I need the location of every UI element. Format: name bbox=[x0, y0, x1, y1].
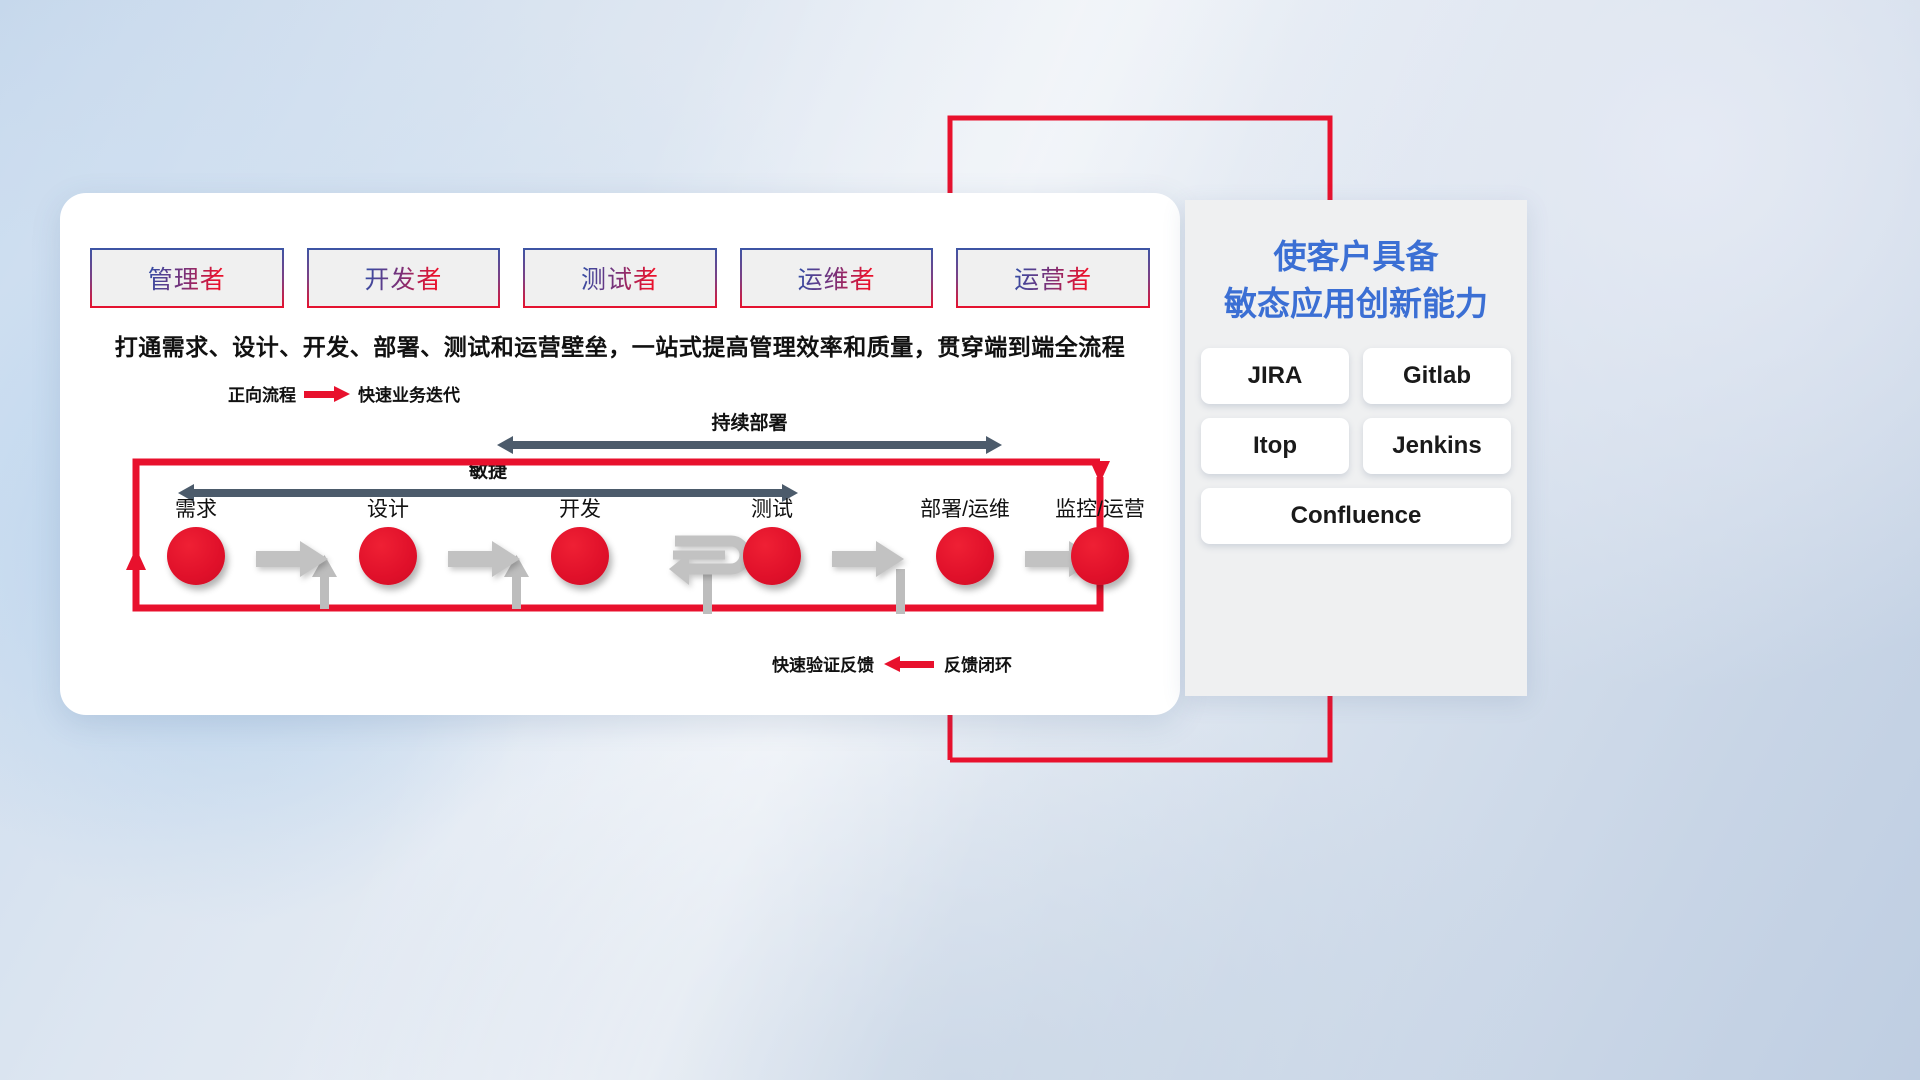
pipeline-stage-development[interactable]: 开发 bbox=[520, 493, 640, 585]
legend-feedback-right-label: 反馈闭环 bbox=[944, 651, 1012, 676]
role-label: 运维者 bbox=[798, 260, 876, 296]
pipeline-stage-design[interactable]: 设计 bbox=[328, 493, 448, 585]
panel-title-line2: 敏态应用创新能力 bbox=[1185, 281, 1527, 328]
stage-dot-icon bbox=[551, 527, 609, 585]
arrow-left-red-icon bbox=[884, 656, 934, 672]
tool-label: JIRA bbox=[1248, 362, 1303, 390]
stage-dot-icon bbox=[743, 527, 801, 585]
stage-label: 部署/运维 bbox=[905, 493, 1025, 523]
pipeline-stage-requirements[interactable]: 需求 bbox=[136, 493, 256, 585]
double-arrow-icon bbox=[497, 436, 1002, 454]
stage-dot-icon bbox=[936, 527, 994, 585]
stage-dot-icon bbox=[1071, 527, 1129, 585]
value-proposition-panel: 使客户具备 敏态应用创新能力 JIRA Gitlab Itop Jenkins … bbox=[1185, 200, 1527, 696]
tool-jenkins[interactable]: Jenkins bbox=[1363, 418, 1511, 474]
arrow-right-gray-icon bbox=[448, 539, 522, 579]
role-box-row: 管理者 开发者 测试者 运维者 运营者 bbox=[90, 248, 1150, 308]
role-label: 运营者 bbox=[1014, 260, 1092, 296]
stage-label: 开发 bbox=[520, 493, 640, 523]
pipeline-stage-monitor-operations[interactable]: 监控/运营 bbox=[1040, 493, 1160, 585]
role-box-tester[interactable]: 测试者 bbox=[523, 248, 717, 308]
tool-label: Confluence bbox=[1291, 502, 1422, 530]
pipeline-row: 需求 设计 开发 测试 bbox=[100, 493, 1145, 613]
tool-label: Itop bbox=[1253, 432, 1297, 460]
arrow-right-gray-icon bbox=[256, 539, 330, 579]
role-label: 管理者 bbox=[148, 260, 226, 296]
legend-forward-left-label: 正向流程 bbox=[228, 381, 296, 406]
legend-forward-flow: 正向流程 快速业务迭代 bbox=[228, 381, 460, 406]
role-label: 测试者 bbox=[581, 260, 659, 296]
tool-itop[interactable]: Itop bbox=[1201, 418, 1349, 474]
legend-forward-right-label: 快速业务迭代 bbox=[358, 381, 460, 406]
tool-list: JIRA Gitlab Itop Jenkins Confluence bbox=[1201, 348, 1511, 544]
role-box-manager[interactable]: 管理者 bbox=[90, 248, 284, 308]
stage-dot-icon bbox=[359, 527, 417, 585]
tool-jira[interactable]: JIRA bbox=[1201, 348, 1349, 404]
legend-feedback-loop: 快速验证反馈 反馈闭环 bbox=[772, 651, 1012, 676]
span-label: 持续部署 bbox=[497, 408, 1002, 435]
role-box-ops[interactable]: 运维者 bbox=[740, 248, 934, 308]
role-box-developer[interactable]: 开发者 bbox=[307, 248, 501, 308]
stage-label: 监控/运营 bbox=[1040, 493, 1160, 523]
role-box-operations[interactable]: 运营者 bbox=[956, 248, 1150, 308]
arrow-right-gray-icon bbox=[832, 539, 906, 579]
stage-label: 需求 bbox=[136, 493, 256, 523]
pipeline-stage-testing[interactable]: 测试 bbox=[712, 493, 832, 585]
stage-label: 设计 bbox=[328, 493, 448, 523]
panel-title: 使客户具备 敏态应用创新能力 bbox=[1185, 234, 1527, 328]
tool-gitlab[interactable]: Gitlab bbox=[1363, 348, 1511, 404]
legend-feedback-left-label: 快速验证反馈 bbox=[772, 651, 874, 676]
pipeline-stage-deploy-ops[interactable]: 部署/运维 bbox=[905, 493, 1025, 585]
stage-dot-icon bbox=[167, 527, 225, 585]
role-label: 开发者 bbox=[364, 260, 442, 296]
main-diagram-card: 管理者 开发者 测试者 运维者 运营者 打通需求、设计、开发、部署、测试和运营壁… bbox=[60, 193, 1180, 715]
description-text: 打通需求、设计、开发、部署、测试和运营壁垒，一站式提高管理效率和质量，贯穿端到端… bbox=[60, 328, 1180, 362]
arrow-right-red-icon bbox=[304, 386, 350, 402]
panel-title-line1: 使客户具备 bbox=[1274, 238, 1439, 275]
tool-label: Jenkins bbox=[1392, 432, 1481, 460]
tool-confluence[interactable]: Confluence bbox=[1201, 488, 1511, 544]
tool-label: Gitlab bbox=[1403, 362, 1471, 390]
span-label: 敏捷 bbox=[178, 456, 798, 483]
stage-label: 测试 bbox=[712, 493, 832, 523]
